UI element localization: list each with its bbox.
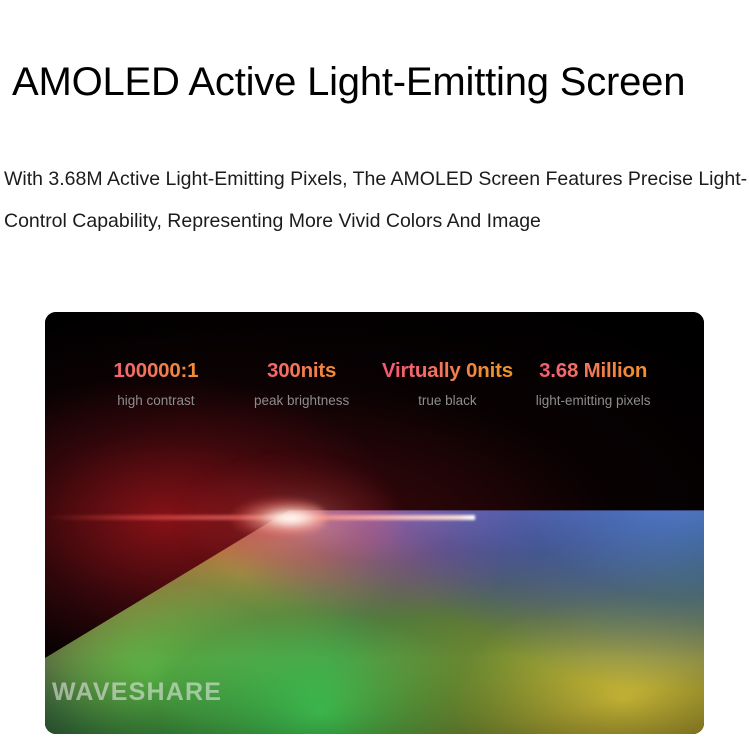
stat-label: peak brightness (229, 392, 375, 410)
stat-true-black: Virtually 0nits true black (375, 358, 521, 410)
stat-label: high contrast (83, 392, 229, 410)
stat-high-contrast: 100000:1 high contrast (83, 358, 229, 410)
stat-label: true black (375, 392, 521, 410)
stat-value: 3.68 Million (520, 358, 666, 384)
stats-row: 100000:1 high contrast 300nits peak brig… (45, 358, 704, 410)
stat-value: 100000:1 (83, 358, 229, 384)
feature-description: With 3.68M Active Light-Emitting Pixels,… (4, 158, 750, 242)
amoled-showcase-panel: 100000:1 high contrast 300nits peak brig… (45, 312, 704, 734)
stat-peak-brightness: 300nits peak brightness (229, 358, 375, 410)
page-title: AMOLED Active Light-Emitting Screen (12, 58, 742, 106)
stat-value: Virtually 0nits (375, 358, 521, 384)
stat-value: 300nits (229, 358, 375, 384)
lens-flare-core (231, 498, 327, 538)
product-feature-page: AMOLED Active Light-Emitting Screen With… (0, 0, 750, 753)
stat-pixel-count: 3.68 Million light-emitting pixels (520, 358, 666, 410)
stat-label: light-emitting pixels (520, 392, 666, 410)
